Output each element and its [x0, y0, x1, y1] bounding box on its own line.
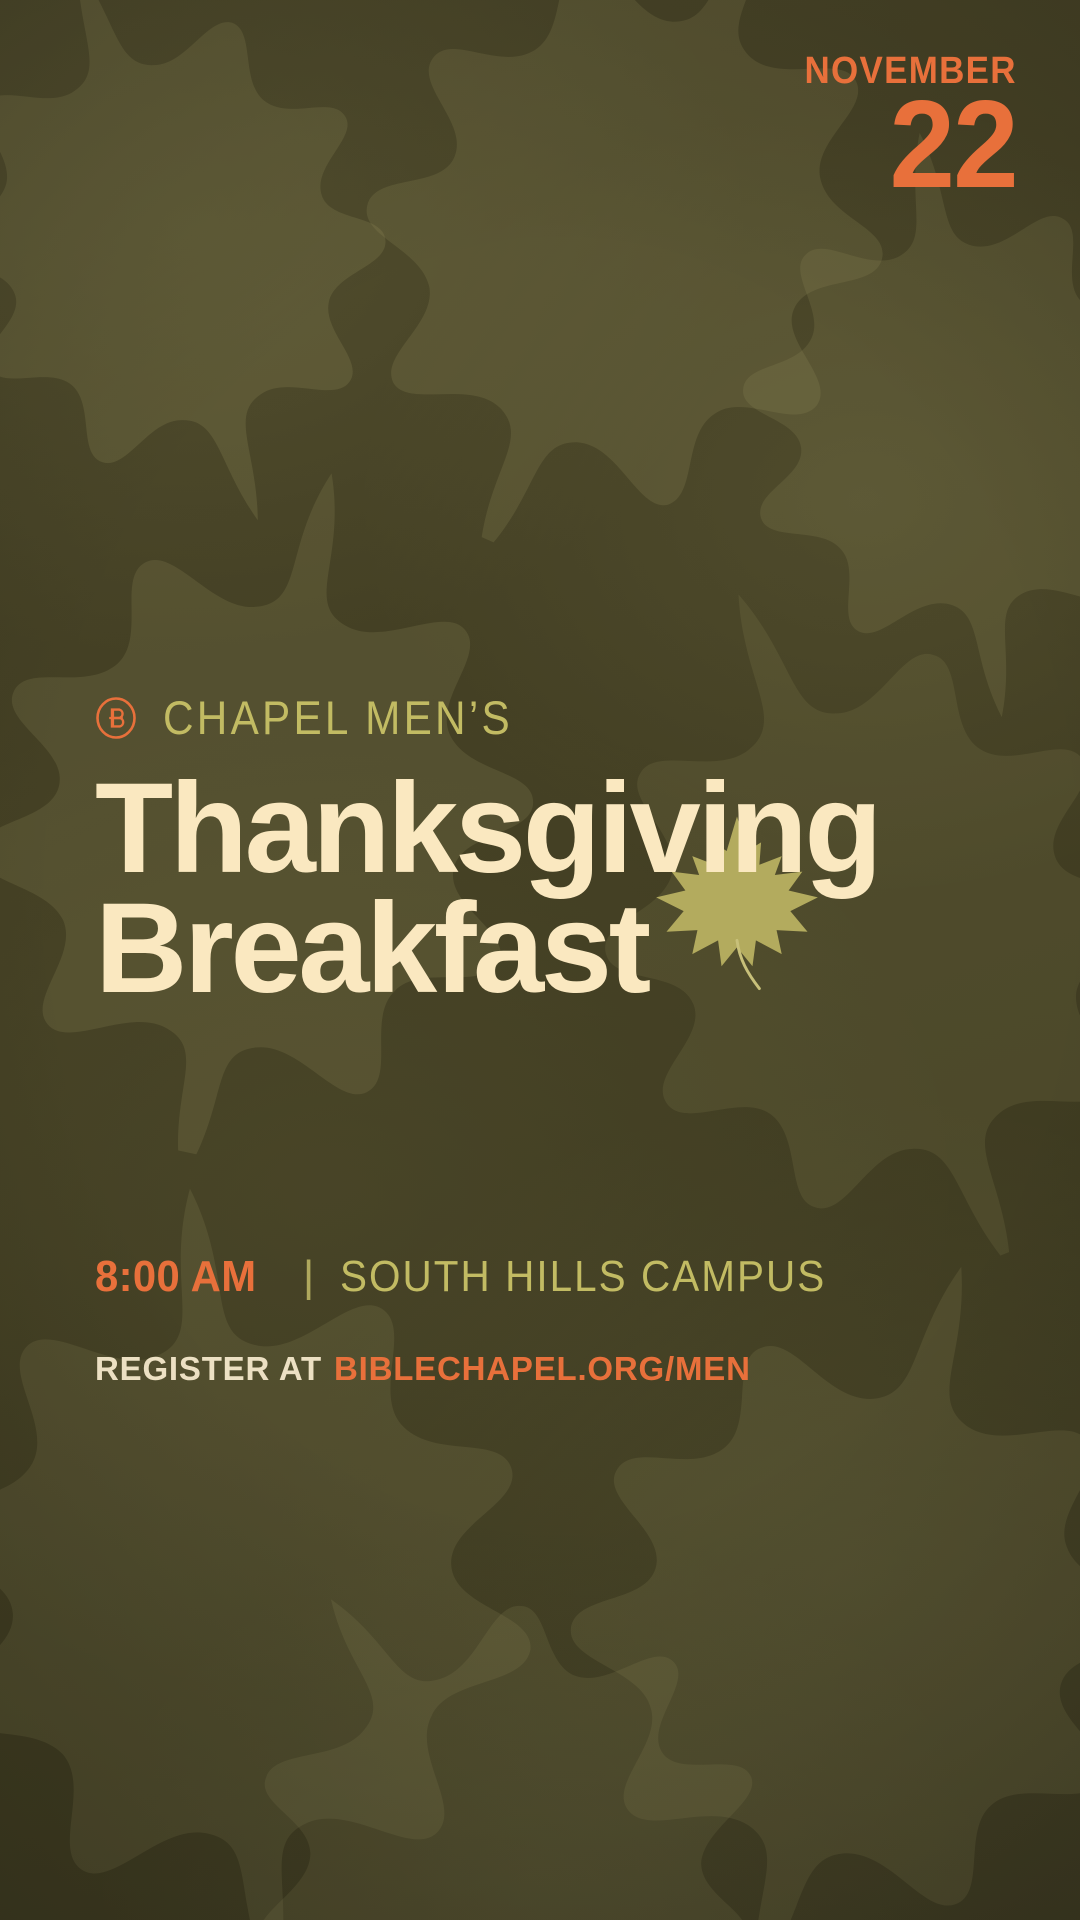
- event-details: 8:00 AM | SOUTH HILLS CAMPUS REGISTER AT…: [95, 1252, 1015, 1388]
- brand-eyebrow-label: CHAPEL MEN’S: [163, 690, 513, 745]
- register-url-link[interactable]: BIBLECHAPEL.ORG/MEN: [334, 1350, 751, 1387]
- oak-leaf-shape: [78, 1425, 922, 1920]
- event-headline: Thanksgiving Breakfast: [95, 769, 1015, 1010]
- event-time: 8:00 AM: [95, 1252, 256, 1302]
- detail-divider: |: [303, 1252, 314, 1302]
- time-venue-row: 8:00 AM | SOUTH HILLS CAMPUS: [95, 1252, 1015, 1302]
- bible-chapel-monogram-icon: [95, 697, 137, 739]
- registration-row: REGISTER ATBIBLECHAPEL.ORG/MEN: [95, 1350, 1015, 1388]
- poster-main-content: CHAPEL MEN’S Thanksgiving Breakfast: [95, 690, 1015, 1010]
- date-day: 22: [798, 93, 1017, 198]
- headline-line-1: Thanksgiving: [95, 769, 1015, 889]
- brand-eyebrow-row: CHAPEL MEN’S: [95, 690, 1015, 745]
- oak-leaf-shape: [0, 0, 513, 625]
- headline-line-2: Breakfast: [95, 889, 1015, 1009]
- event-poster: NOVEMBER 22 CHAPEL MEN’S Th: [0, 0, 1080, 1920]
- event-date: NOVEMBER 22: [786, 52, 1017, 198]
- register-label: REGISTER AT: [95, 1350, 322, 1387]
- event-venue: SOUTH HILLS CAMPUS: [340, 1252, 826, 1302]
